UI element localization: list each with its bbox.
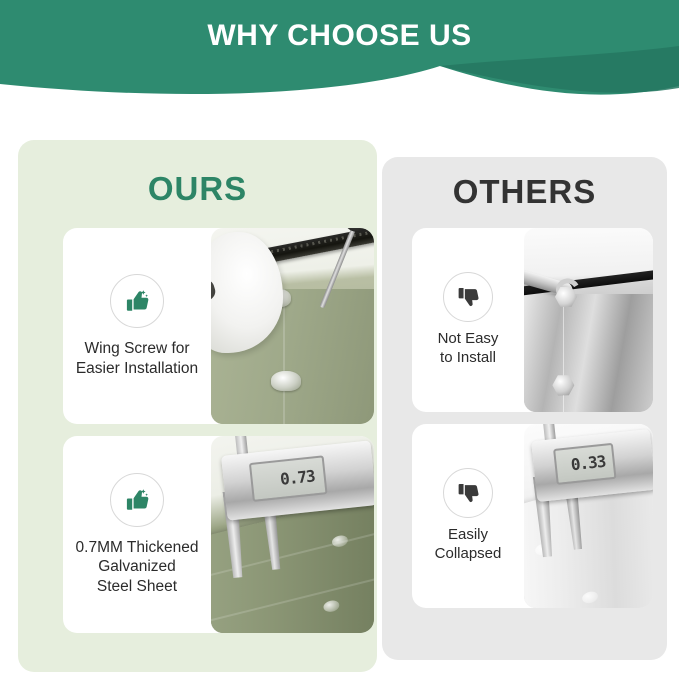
ours-card-1-text-side: Wing Screw for Easier Installation [63, 228, 211, 424]
caliper-body: 0.33 [531, 429, 653, 502]
caliper-measuring-white-gutter-photo: 0.33 [524, 424, 653, 608]
caliper-display: 0.33 [554, 443, 617, 485]
ours-heading: OURS [18, 170, 377, 208]
caliper-reading-value: 0.73 [279, 467, 315, 490]
others-card-2-label: Easily Collapsed [435, 526, 502, 564]
others-card-2-text-side: Easily Collapsed [412, 424, 524, 608]
others-card-1-label: Not Easy to Install [438, 330, 499, 368]
wrench-tightening-bolts-photo [524, 228, 653, 412]
others-panel: OTHERS Not Easy to Install [382, 157, 667, 660]
caliper-measuring-green-gutter-photo: 0.73 [211, 436, 374, 633]
gutter-dimple [323, 599, 341, 614]
comparison-section: OURS Wing Screw for Easier Installation [0, 140, 679, 679]
thumbs-down-icon [455, 284, 481, 310]
others-heading: OTHERS [382, 173, 667, 211]
ours-card-wing-screw[interactable]: Wing Screw for Easier Installation [63, 228, 374, 424]
caliper-display: 0.73 [249, 456, 328, 503]
others-card-hard-install[interactable]: Not Easy to Install [412, 228, 653, 412]
gloved-hand-installing-wing-screw-photo [211, 228, 374, 424]
thumbs-up-icon-circle [110, 274, 164, 328]
gutter-dimple [581, 589, 599, 604]
silver-gutter-surface [524, 294, 653, 412]
caliper-reading-value: 0.33 [570, 452, 606, 475]
header-banner: WHY CHOOSE US [0, 0, 679, 112]
gutter-dimple [331, 534, 349, 549]
thumbs-up-icon [123, 486, 151, 514]
thumbs-up-icon-circle [110, 473, 164, 527]
page-title: WHY CHOOSE US [0, 0, 679, 72]
thumbs-down-icon [455, 480, 481, 506]
others-card-1-text-side: Not Easy to Install [412, 228, 524, 412]
ours-card-1-label: Wing Screw for Easier Installation [76, 339, 198, 378]
thumbs-down-icon-circle [443, 272, 493, 322]
wing-screw-lower [271, 371, 301, 391]
glove-thumb [211, 278, 217, 305]
thumbs-up-icon [123, 287, 151, 315]
ours-card-2-text-side: 0.7MM Thickened Galvanized Steel Sheet [63, 436, 211, 633]
thumbs-down-icon-circle [443, 468, 493, 518]
ours-card-2-label: 0.7MM Thickened Galvanized Steel Sheet [76, 538, 199, 597]
ours-card-steel-thickness[interactable]: 0.7MM Thickened Galvanized Steel Sheet 0… [63, 436, 374, 633]
ours-panel: OURS Wing Screw for Easier Installation [18, 140, 377, 672]
others-card-easily-collapsed[interactable]: Easily Collapsed 0.33 [412, 424, 653, 608]
